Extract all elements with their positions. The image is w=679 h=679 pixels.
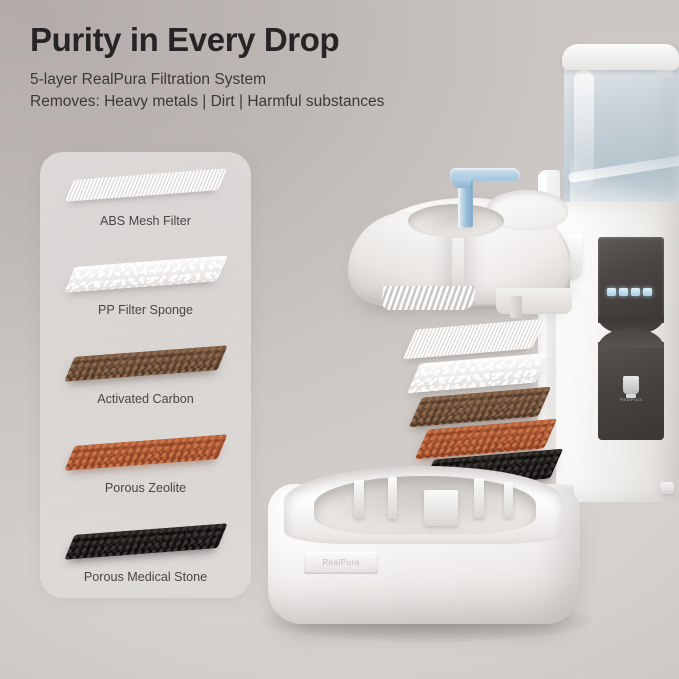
legend-item-activated-carbon: Activated Carbon <box>40 334 251 423</box>
product-infographic: Purity in Every Drop 5-layer RealPura Fi… <box>0 0 679 679</box>
water-tank <box>564 52 679 204</box>
filter-layers-legend: ABS Mesh Filter PP Filter Sponge Activat… <box>40 152 251 598</box>
subtitle-line-1: 5-layer RealPura Filtration System <box>30 69 550 91</box>
porous-medical-stone-swatch <box>72 518 220 564</box>
legend-label: Porous Medical Stone <box>40 570 251 584</box>
panel-mark: · <box>627 306 630 312</box>
stack-layer-abs-mesh-filter <box>403 319 546 360</box>
device-knob <box>660 482 674 494</box>
legend-item-porous-medical-stone: Porous Medical Stone <box>40 512 251 598</box>
mesh-texture-icon <box>64 168 226 202</box>
legend-item-porous-zeolite: Porous Zeolite <box>40 423 251 512</box>
base-fin <box>354 480 364 518</box>
filter-housing-lid <box>346 168 578 320</box>
filter-base-tray: RealPura <box>268 466 580 642</box>
blue-clip-handle[interactable] <box>450 168 520 226</box>
base-embossed-logo: RealPura <box>304 552 378 574</box>
legend-label: Porous Zeolite <box>40 481 251 495</box>
subtitle-line-2: Removes: Heavy metals | Dirt | Harmful s… <box>30 91 550 113</box>
housing-ribs <box>380 286 475 310</box>
base-fin <box>504 482 513 518</box>
base-fin <box>388 477 397 519</box>
legend-label: Activated Carbon <box>40 392 251 406</box>
medical-stone-granule-texture-icon <box>64 523 227 560</box>
page-title: Purity in Every Drop <box>30 22 550 58</box>
indicator-led-row <box>607 287 655 296</box>
control-panel[interactable]: · · · <box>598 237 664 323</box>
carbon-granule-texture-icon <box>64 345 227 382</box>
sponge-texture-icon <box>64 255 228 293</box>
brand-badge-mark: RealPura <box>598 376 664 402</box>
indicator-led <box>619 288 628 296</box>
base-fin <box>424 490 458 526</box>
base-fin <box>474 478 484 518</box>
panel-mark: · <box>618 306 621 312</box>
legend-item-abs-mesh-filter: ABS Mesh Filter <box>40 156 251 245</box>
housing-stem <box>510 296 522 318</box>
abs-mesh-filter-swatch <box>72 162 220 208</box>
zeolite-granule-texture-icon <box>64 434 227 471</box>
pp-filter-sponge-swatch <box>72 251 220 297</box>
indicator-led <box>631 288 640 296</box>
brand-logo-icon <box>623 376 639 394</box>
activated-carbon-swatch <box>72 340 220 386</box>
housing-post <box>496 288 572 314</box>
porous-zeolite-swatch <box>72 429 220 475</box>
indicator-led <box>607 288 616 296</box>
legend-label: ABS Mesh Filter <box>40 214 251 228</box>
clip-top-bar <box>450 168 520 181</box>
control-panel-marks: · · · <box>608 305 654 313</box>
tank-lid <box>562 44 679 70</box>
header-block: Purity in Every Drop 5-layer RealPura Fi… <box>30 22 550 113</box>
stack-layer-pp-filter-sponge <box>407 353 550 394</box>
brand-badge-panel: RealPura <box>598 342 664 440</box>
legend-label: PP Filter Sponge <box>40 303 251 317</box>
indicator-led <box>643 288 652 296</box>
panel-mark: · <box>608 306 611 312</box>
legend-item-pp-filter-sponge: PP Filter Sponge <box>40 245 251 334</box>
